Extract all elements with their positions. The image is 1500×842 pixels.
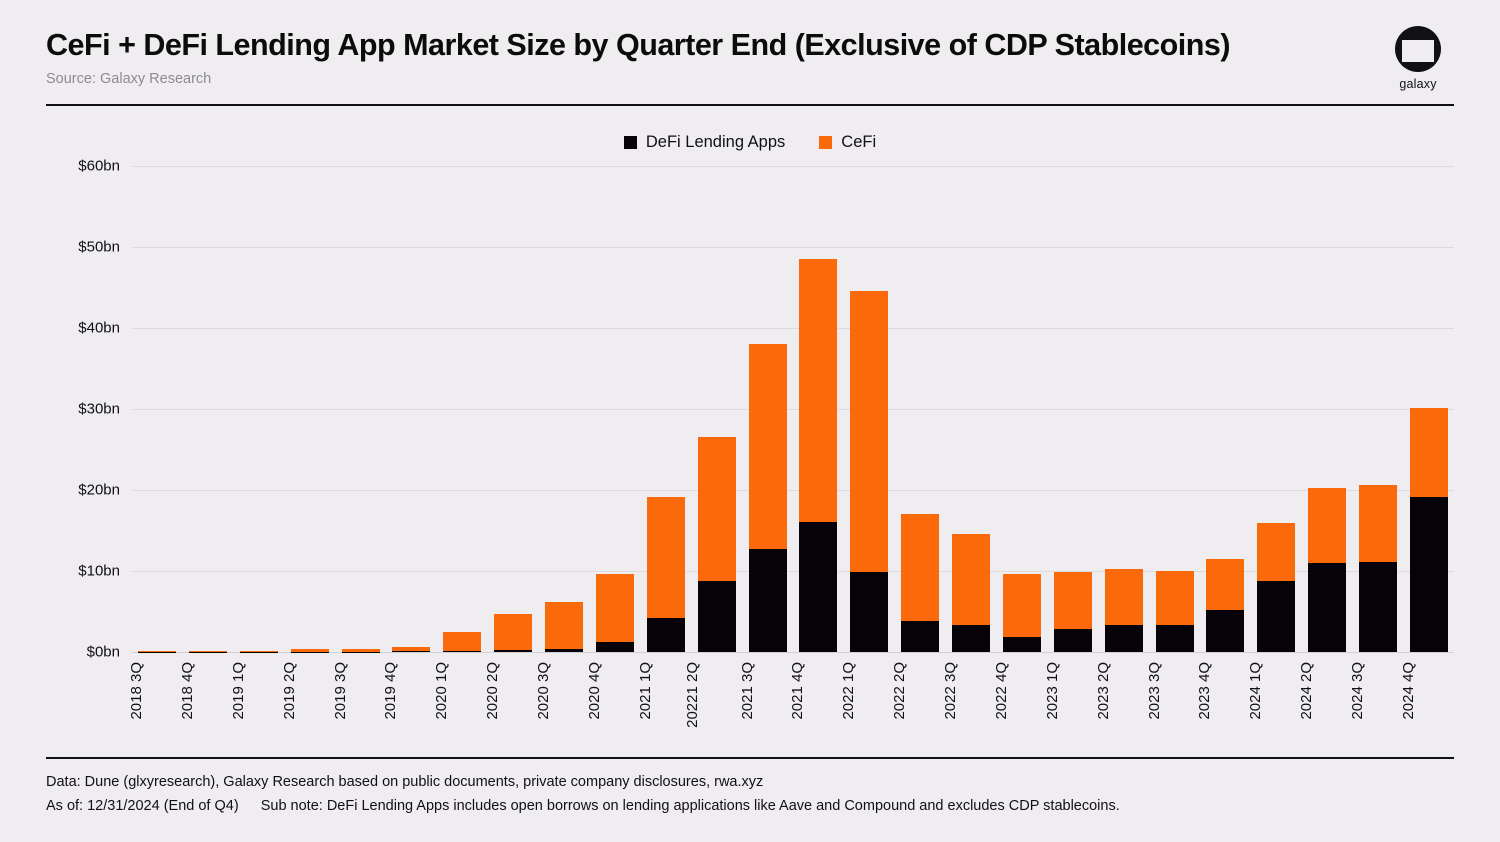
legend-label-defi: DeFi Lending Apps bbox=[646, 133, 785, 152]
bar-segment-cefi bbox=[596, 574, 634, 642]
bar-column[interactable] bbox=[596, 166, 634, 652]
bar-segment-cefi bbox=[1156, 571, 1194, 625]
x-axis-tick: 2019 3Q bbox=[342, 658, 380, 758]
x-axis: 2018 3Q2018 4Q2019 1Q2019 2Q2019 3Q2019 … bbox=[132, 658, 1454, 758]
galaxy-logo: galaxy bbox=[1382, 26, 1454, 91]
bar-segment-defi bbox=[1410, 497, 1448, 652]
bar-column[interactable] bbox=[1105, 166, 1143, 652]
bar-segment-cefi bbox=[901, 514, 939, 620]
x-axis-tick: 2024 2Q bbox=[1308, 658, 1346, 758]
x-axis-tick-label: 2019 1Q bbox=[230, 662, 247, 720]
legend-swatch-cefi-icon bbox=[819, 136, 832, 149]
legend-swatch-defi-icon bbox=[624, 136, 637, 149]
bar-segment-defi bbox=[443, 651, 481, 652]
bar-segment-cefi bbox=[1308, 488, 1346, 563]
x-axis-tick-label: 2018 3Q bbox=[128, 662, 145, 720]
bar-segment-cefi bbox=[443, 632, 481, 651]
bar-segment-cefi bbox=[749, 344, 787, 550]
bar-segment-cefi bbox=[698, 437, 736, 581]
bar-column[interactable] bbox=[545, 166, 583, 652]
bar-segment-defi bbox=[1308, 563, 1346, 652]
bar-segment-cefi bbox=[799, 259, 837, 521]
x-axis-tick-label: 2020 4Q bbox=[586, 662, 603, 720]
bar-segment-cefi bbox=[1054, 572, 1092, 630]
bar-segment-defi bbox=[647, 618, 685, 652]
bar-column[interactable] bbox=[901, 166, 939, 652]
bar-segment-defi bbox=[189, 652, 227, 653]
logo-square-icon bbox=[1402, 40, 1434, 66]
x-axis-tick-label: 2023 2Q bbox=[1095, 662, 1112, 720]
bar-segment-defi bbox=[901, 621, 939, 653]
x-axis-tick: 2020 4Q bbox=[596, 658, 634, 758]
x-axis-tick-label: 20221 2Q bbox=[684, 662, 701, 728]
x-axis-tick: 2023 1Q bbox=[1054, 658, 1092, 758]
y-axis-tick-label: $40bn bbox=[78, 320, 120, 337]
bar-segment-defi bbox=[392, 651, 430, 652]
bar-segment-defi bbox=[240, 652, 278, 653]
bar-column[interactable] bbox=[749, 166, 787, 652]
legend-label-cefi: CeFi bbox=[841, 133, 876, 152]
x-axis-tick: 2022 3Q bbox=[952, 658, 990, 758]
bar-segment-cefi bbox=[1206, 559, 1244, 610]
x-axis-tick: 2018 3Q bbox=[138, 658, 176, 758]
bar-column[interactable] bbox=[799, 166, 837, 652]
x-axis-tick: 2020 2Q bbox=[494, 658, 532, 758]
bar-segment-defi bbox=[596, 642, 634, 652]
x-axis-tick-label: 2024 1Q bbox=[1247, 662, 1264, 720]
bar-segment-cefi bbox=[1003, 574, 1041, 637]
x-axis-tick-label: 2023 3Q bbox=[1146, 662, 1163, 720]
bar-column[interactable] bbox=[443, 166, 481, 652]
bar-column[interactable] bbox=[1206, 166, 1244, 652]
bar-column[interactable] bbox=[698, 166, 736, 652]
y-axis-tick-label: $20bn bbox=[78, 482, 120, 499]
bar-segment-cefi bbox=[1257, 523, 1295, 581]
x-axis-tick: 2023 2Q bbox=[1105, 658, 1143, 758]
chart-header: CeFi + DeFi Lending App Market Size by Q… bbox=[46, 0, 1454, 106]
bar-column[interactable] bbox=[138, 166, 176, 652]
bar-segment-defi bbox=[1003, 637, 1041, 652]
y-axis-tick-label: $0bn bbox=[87, 644, 120, 661]
x-axis-tick: 2020 3Q bbox=[545, 658, 583, 758]
x-axis-tick-label: 2021 3Q bbox=[739, 662, 756, 720]
x-axis-tick: 2022 2Q bbox=[901, 658, 939, 758]
footnote-data: Data: Dune (glxyresearch), Galaxy Resear… bbox=[46, 771, 1454, 794]
y-axis: $0bn$10bn$20bn$30bn$40bn$50bn$60bn bbox=[46, 166, 132, 652]
y-axis-tick-label: $50bn bbox=[78, 239, 120, 256]
bar-column[interactable] bbox=[850, 166, 888, 652]
bar-segment-cefi bbox=[1359, 485, 1397, 562]
x-axis-tick-label: 2024 3Q bbox=[1349, 662, 1366, 720]
bar-segment-defi bbox=[1206, 610, 1244, 652]
x-axis-tick: 2024 1Q bbox=[1257, 658, 1295, 758]
x-axis-tick-label: 2022 2Q bbox=[891, 662, 908, 720]
bar-column[interactable] bbox=[392, 166, 430, 652]
x-axis-tick-label: 2022 3Q bbox=[942, 662, 959, 720]
x-axis-tick-label: 2024 4Q bbox=[1400, 662, 1417, 720]
x-axis-tick: 2021 1Q bbox=[647, 658, 685, 758]
bar-segment-defi bbox=[1359, 562, 1397, 652]
x-axis-tick-label: 2020 1Q bbox=[433, 662, 450, 720]
bar-column[interactable] bbox=[494, 166, 532, 652]
page-title: CeFi + DeFi Lending App Market Size by Q… bbox=[46, 28, 1454, 62]
x-axis-tick: 2022 1Q bbox=[850, 658, 888, 758]
bar-segment-defi bbox=[291, 652, 329, 653]
bar-segment-defi bbox=[545, 649, 583, 652]
x-axis-tick-label: 2023 4Q bbox=[1197, 662, 1214, 720]
bar-segment-defi bbox=[494, 650, 532, 652]
bar-column[interactable] bbox=[952, 166, 990, 652]
x-axis-tick-label: 2020 3Q bbox=[535, 662, 552, 720]
chart-legend: DeFi Lending Apps CeFi bbox=[46, 130, 1454, 154]
x-axis-tick-label: 2022 4Q bbox=[993, 662, 1010, 720]
footnote-asof: As of: 12/31/2024 (End of Q4) Sub note: … bbox=[46, 795, 1454, 818]
x-axis-tick: 2024 4Q bbox=[1410, 658, 1448, 758]
x-axis-tick-label: 2022 1Q bbox=[840, 662, 857, 720]
x-axis-tick-label: 2021 4Q bbox=[790, 662, 807, 720]
bar-segment-defi bbox=[342, 652, 380, 653]
plot-area: $0bn$10bn$20bn$30bn$40bn$50bn$60bn 2018 … bbox=[46, 166, 1454, 676]
bar-segment-cefi bbox=[494, 614, 532, 650]
footnote-asof-date: As of: 12/31/2024 (End of Q4) bbox=[46, 798, 239, 814]
x-axis-tick: 2020 1Q bbox=[443, 658, 481, 758]
bar-column[interactable] bbox=[1257, 166, 1295, 652]
x-axis-tick: 20221 2Q bbox=[698, 658, 736, 758]
bar-column[interactable] bbox=[240, 166, 278, 652]
bar-segment-defi bbox=[138, 652, 176, 653]
x-axis-tick-label: 2019 3Q bbox=[332, 662, 349, 720]
x-axis-tick: 2021 3Q bbox=[749, 658, 787, 758]
bar-segment-defi bbox=[749, 549, 787, 652]
x-axis-tick-label: 2024 2Q bbox=[1298, 662, 1315, 720]
bar-segment-cefi bbox=[647, 497, 685, 619]
x-axis-tick: 2019 2Q bbox=[291, 658, 329, 758]
bar-segment-defi bbox=[799, 522, 837, 652]
galaxy-logo-mark bbox=[1395, 26, 1441, 72]
chart-page: CeFi + DeFi Lending App Market Size by Q… bbox=[0, 0, 1500, 842]
bar-column[interactable] bbox=[1410, 166, 1448, 652]
x-axis-tick-label: 2018 4Q bbox=[179, 662, 196, 720]
bar-segment-defi bbox=[1257, 581, 1295, 652]
axis-baseline bbox=[132, 652, 1454, 653]
x-axis-tick-label: 2021 1Q bbox=[637, 662, 654, 720]
bar-column[interactable] bbox=[342, 166, 380, 652]
bar-segment-cefi bbox=[952, 534, 990, 626]
x-axis-tick-label: 2020 2Q bbox=[484, 662, 501, 720]
bar-segment-defi bbox=[698, 581, 736, 652]
logo-label: galaxy bbox=[1382, 77, 1454, 91]
x-axis-tick: 2021 4Q bbox=[799, 658, 837, 758]
bar-segment-cefi bbox=[1410, 408, 1448, 498]
x-axis-tick: 2023 3Q bbox=[1156, 658, 1194, 758]
x-axis-tick: 2019 1Q bbox=[240, 658, 278, 758]
bar-column[interactable] bbox=[189, 166, 227, 652]
bar-segment-cefi bbox=[545, 602, 583, 649]
bar-column[interactable] bbox=[1359, 166, 1397, 652]
y-axis-tick-label: $60bn bbox=[78, 158, 120, 175]
x-axis-tick-label: 2023 1Q bbox=[1044, 662, 1061, 720]
x-axis-tick: 2023 4Q bbox=[1206, 658, 1244, 758]
legend-item-defi[interactable]: DeFi Lending Apps bbox=[624, 133, 785, 152]
bar-segment-defi bbox=[1156, 625, 1194, 652]
bar-segment-cefi bbox=[1105, 569, 1143, 625]
y-axis-tick-label: $10bn bbox=[78, 563, 120, 580]
x-axis-tick: 2024 3Q bbox=[1359, 658, 1397, 758]
x-axis-tick-label: 2019 2Q bbox=[281, 662, 298, 720]
chart-footer: Data: Dune (glxyresearch), Galaxy Resear… bbox=[46, 757, 1454, 818]
chart-source: Source: Galaxy Research bbox=[46, 71, 1454, 87]
legend-item-cefi[interactable]: CeFi bbox=[819, 133, 876, 152]
bar-column[interactable] bbox=[291, 166, 329, 652]
bar-column[interactable] bbox=[1003, 166, 1041, 652]
bar-column[interactable] bbox=[1156, 166, 1194, 652]
bar-column[interactable] bbox=[1308, 166, 1346, 652]
x-axis-tick-label: 2019 4Q bbox=[383, 662, 400, 720]
bar-segment-defi bbox=[1054, 629, 1092, 652]
bar-segment-cefi bbox=[850, 291, 888, 572]
footnote-subnote: Sub note: DeFi Lending Apps includes ope… bbox=[261, 798, 1120, 814]
bar-segment-defi bbox=[1105, 625, 1143, 653]
bar-segment-defi bbox=[952, 625, 990, 652]
bar-column[interactable] bbox=[647, 166, 685, 652]
x-axis-tick: 2022 4Q bbox=[1003, 658, 1041, 758]
bar-segment-defi bbox=[850, 572, 888, 652]
x-axis-tick: 2019 4Q bbox=[392, 658, 430, 758]
footer-divider bbox=[46, 757, 1454, 759]
header-divider bbox=[46, 104, 1454, 106]
bar-series-container bbox=[132, 166, 1454, 652]
y-axis-tick-label: $30bn bbox=[78, 401, 120, 418]
x-axis-tick: 2018 4Q bbox=[189, 658, 227, 758]
bar-column[interactable] bbox=[1054, 166, 1092, 652]
